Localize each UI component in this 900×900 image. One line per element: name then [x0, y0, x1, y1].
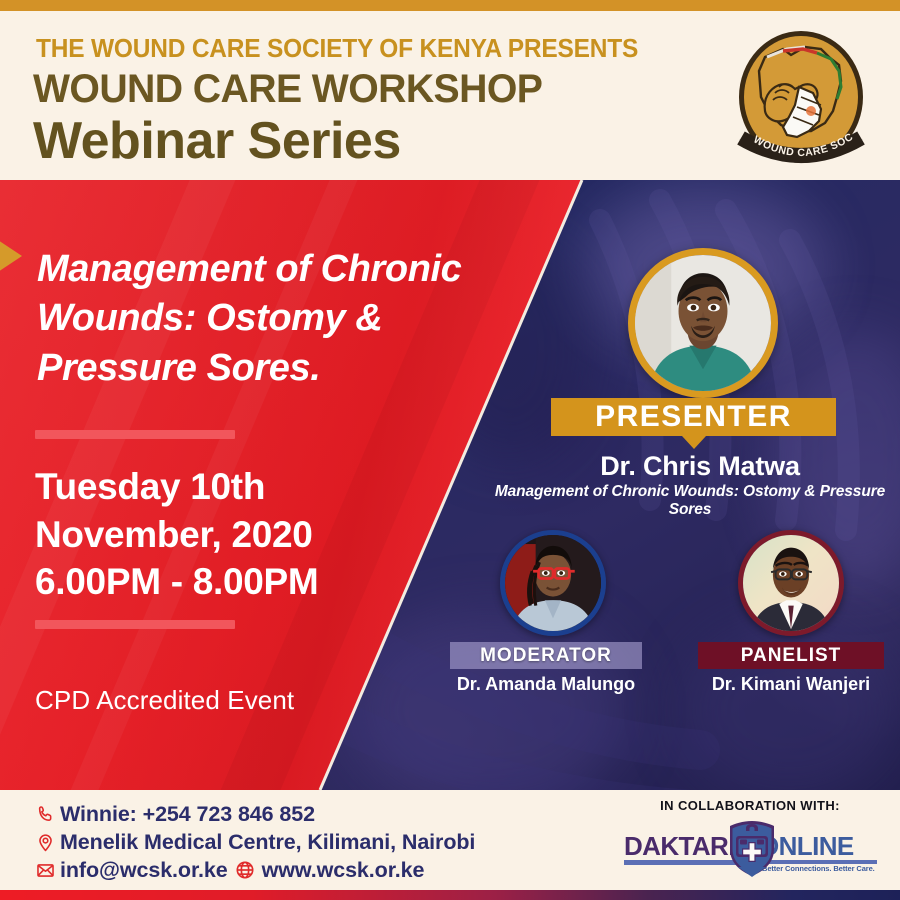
divider-rule-top: [35, 430, 235, 439]
phone-icon: [30, 805, 60, 824]
panelist-name: Dr. Kimani Wanjeri: [680, 674, 900, 695]
contact-email[interactable]: info@wcsk.or.ke: [60, 858, 228, 883]
cpd-accreditation-note: CPD Accredited Event: [35, 685, 294, 716]
globe-icon: [228, 860, 262, 880]
daktari-underline: [624, 860, 736, 865]
presenter-name: Dr. Chris Matwa: [500, 451, 900, 482]
collaboration-label: IN COLLABORATION WITH:: [620, 798, 880, 813]
contact-phone[interactable]: Winnie: +254 723 846 852: [60, 802, 315, 827]
moderator-avatar: [500, 530, 606, 636]
collaboration-block: IN COLLABORATION WITH: DAKTARI ONLINE Be…: [620, 798, 880, 876]
webinar-poster: THE WOUND CARE SOCIETY OF KENYA PRESENTS…: [0, 0, 900, 900]
location-pin-icon: [30, 833, 60, 852]
event-date-line-2: November, 2020: [35, 511, 455, 559]
presenter-role-badge: PRESENTER: [551, 398, 836, 436]
presenter-org-line: THE WOUND CARE SOCIETY OF KENYA PRESENTS: [36, 35, 638, 64]
contact-website[interactable]: www.wcsk.or.ke: [262, 858, 425, 883]
presenter-avatar: [628, 248, 778, 398]
moderator-role-badge: MODERATOR: [450, 642, 642, 669]
medical-shield-icon: [724, 819, 780, 882]
daktari-online-logo: DAKTARI ONLINE Better Connections. Bette…: [620, 820, 880, 876]
event-time: 6.00PM - 8.00PM: [35, 558, 455, 606]
presenter-topic: Management of Chronic Wounds: Ostomy & P…: [480, 483, 900, 519]
daktari-wordmark: DAKTARI: [624, 831, 735, 862]
workshop-title-line: WOUND CARE WORKSHOP: [33, 67, 542, 112]
top-gold-rule: [0, 0, 900, 11]
poster-header: THE WOUND CARE SOCIETY OF KENYA PRESENTS…: [0, 11, 900, 180]
panelist-role-badge: PANELIST: [698, 642, 884, 669]
presenter-badge-notch: [682, 436, 706, 449]
event-title: Management of Chronic Wounds: Ostomy & P…: [37, 245, 517, 393]
poster-footer: Winnie: +254 723 846 852 Menelik Medical…: [0, 790, 900, 890]
contact-row-address: Menelik Medical Centre, Kilimani, Nairob…: [30, 828, 475, 856]
contact-row-email-web: info@wcsk.or.ke www.wcsk.or.ke: [30, 856, 475, 884]
gold-arrow-icon: [0, 236, 22, 276]
contact-row-phone: Winnie: +254 723 846 852: [30, 800, 475, 828]
webinar-series-line: Webinar Series: [33, 111, 401, 171]
divider-rule-bottom: [35, 620, 235, 629]
website-group: www.wcsk.or.ke: [228, 858, 425, 883]
envelope-icon: [30, 861, 60, 880]
poster-body: Management of Chronic Wounds: Ostomy & P…: [0, 180, 900, 790]
contact-block: Winnie: +254 723 846 852 Menelik Medical…: [30, 800, 475, 884]
event-date-line-1: Tuesday 10th: [35, 463, 455, 511]
panelist-avatar: [738, 530, 844, 636]
event-datetime: Tuesday 10th November, 2020 6.00PM - 8.0…: [35, 463, 455, 606]
bottom-gradient-bar: [0, 890, 900, 900]
moderator-name: Dr. Amanda Malungo: [430, 674, 662, 695]
wound-care-society-of-kenya-logo: WOUND CARE SOCIETY OF KENYA: [725, 27, 877, 179]
contact-address: Menelik Medical Centre, Kilimani, Nairob…: [60, 830, 475, 855]
